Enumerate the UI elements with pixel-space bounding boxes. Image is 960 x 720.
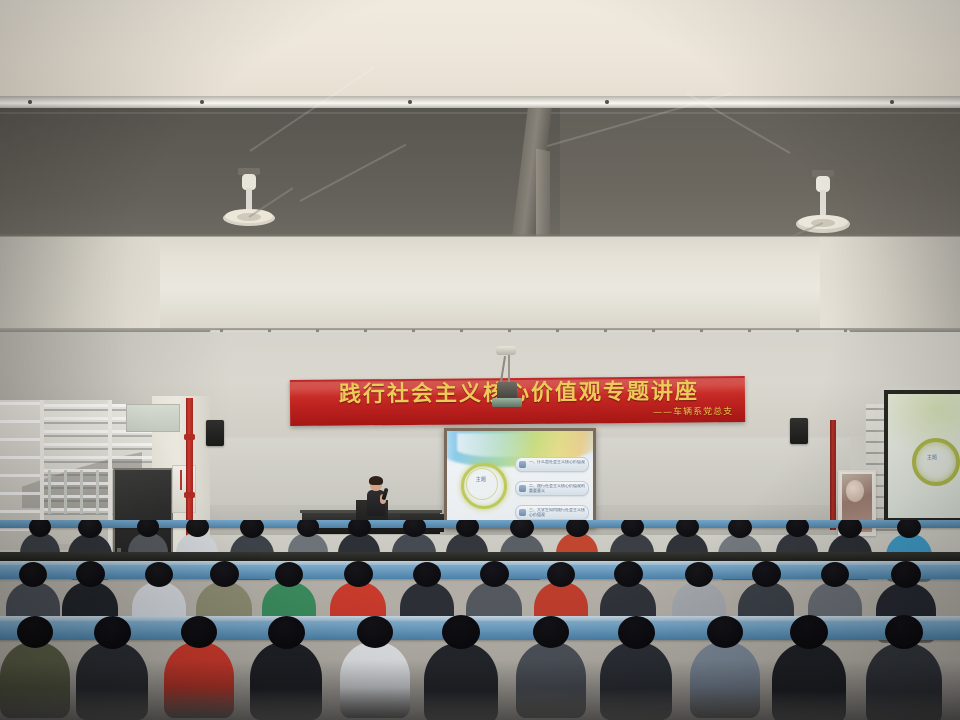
pipe-joint xyxy=(184,492,195,498)
desk-surface xyxy=(0,552,960,561)
wall-notice-board xyxy=(126,404,180,432)
beam-right-bevel xyxy=(820,236,960,332)
slide-bullet-text: 二、践行社会主义核心价值观的重要意义 xyxy=(529,484,585,493)
slide-bullet-text: 一、什么是社会主义核心价值观 xyxy=(529,460,585,465)
window-louver xyxy=(0,438,40,441)
railing-post xyxy=(96,470,99,514)
slide-bullet: 三、大学生如何践行社会主义核心价值观 xyxy=(515,505,589,520)
audience-member-head xyxy=(707,616,743,648)
ceiling-fan-left-icon xyxy=(198,160,308,240)
audience-member-head xyxy=(442,615,480,649)
slide-bullet: 一、什么是社会主义核心价值观 xyxy=(515,457,589,472)
pendant-lamp-wire xyxy=(508,352,510,382)
slide-ring-label: 主题 xyxy=(465,476,497,483)
pipe-joint xyxy=(184,434,195,440)
window-louver-shadow xyxy=(44,448,154,450)
audience-member-head xyxy=(685,562,713,587)
pendant-lamp-cap xyxy=(496,346,516,355)
audience-member-head xyxy=(275,562,303,587)
audience-member-head xyxy=(614,561,643,587)
audience-member-head xyxy=(268,616,305,649)
railing-post xyxy=(80,470,83,514)
rail-bolt xyxy=(408,100,412,104)
rail-bolt xyxy=(200,100,204,104)
slide-bullet-text: 三、大学生如何践行社会主义核心价值观 xyxy=(529,508,585,517)
audience-member-head xyxy=(885,615,923,649)
window-louver xyxy=(0,420,40,423)
audience-member-head xyxy=(533,616,569,648)
window-louver xyxy=(44,456,154,459)
audience-member-head xyxy=(790,615,828,649)
lecture-hall-photo: 主题 践行社会主义核心价值观专题讲座 ——车辆系党总支 主题 一、什么是社会主义… xyxy=(0,0,960,720)
window-louver-shadow xyxy=(44,435,154,437)
ceiling-recess-right xyxy=(560,108,960,238)
beam-top-edge xyxy=(0,234,960,237)
audience-member-head xyxy=(480,561,509,587)
rail-bolt xyxy=(890,100,894,104)
slide-ring-right-icon xyxy=(912,438,960,486)
railing-post xyxy=(48,470,51,514)
slide-ring-right-label: 主题 xyxy=(918,454,946,461)
wall-speaker-left-icon xyxy=(206,420,224,446)
bullet-marker-icon xyxy=(519,485,526,492)
projection-screen-main: 主题 一、什么是社会主义核心价值观二、践行社会主义核心价值观的重要意义三、大学生… xyxy=(444,428,596,528)
audience-member-head xyxy=(821,562,849,587)
ceiling-seam xyxy=(0,112,960,114)
audience-member-head xyxy=(94,616,131,649)
slide-bullet: 二、践行社会主义核心价值观的重要意义 xyxy=(515,481,589,496)
bullet-marker-icon xyxy=(519,509,526,516)
banner-subtitle: ——车辆系党总支 xyxy=(653,404,733,418)
foreground-shadow xyxy=(0,660,960,720)
audience-member-head xyxy=(357,616,393,648)
rail-bolt xyxy=(28,100,32,104)
audience-member-head xyxy=(76,561,105,587)
audience-member-head xyxy=(413,562,441,587)
window-louver xyxy=(0,474,40,477)
window-louver xyxy=(44,443,154,446)
audience-member-head xyxy=(145,562,173,587)
audience-member-head xyxy=(891,561,921,588)
wall-speaker-right-icon xyxy=(790,418,808,444)
audience-member-head xyxy=(181,616,217,648)
window-louver xyxy=(0,492,40,495)
bullet-marker-icon xyxy=(519,461,526,468)
projection-screen-right: 主题 xyxy=(884,390,960,522)
ceiling-upper-slab xyxy=(0,0,960,98)
railing-post xyxy=(64,470,67,514)
audience-member-head xyxy=(618,616,655,649)
window-louver xyxy=(0,510,40,513)
presenter xyxy=(366,478,386,516)
audience-member-head xyxy=(344,561,373,587)
beam-left-bevel xyxy=(0,236,160,332)
audience-member-head xyxy=(752,561,781,587)
window-louver-shadow xyxy=(44,461,154,463)
window-louver xyxy=(0,402,40,405)
audience-member-head xyxy=(19,562,47,587)
audience-member-head xyxy=(210,561,239,587)
audience-member-head xyxy=(547,562,575,587)
fire-pipe-right xyxy=(830,420,836,530)
rail-bolt xyxy=(605,100,609,104)
pendant-lamp-glass xyxy=(492,398,522,407)
window-louver xyxy=(0,456,40,459)
audience-member-head xyxy=(17,616,53,648)
ceiling-rib-face xyxy=(536,149,550,244)
